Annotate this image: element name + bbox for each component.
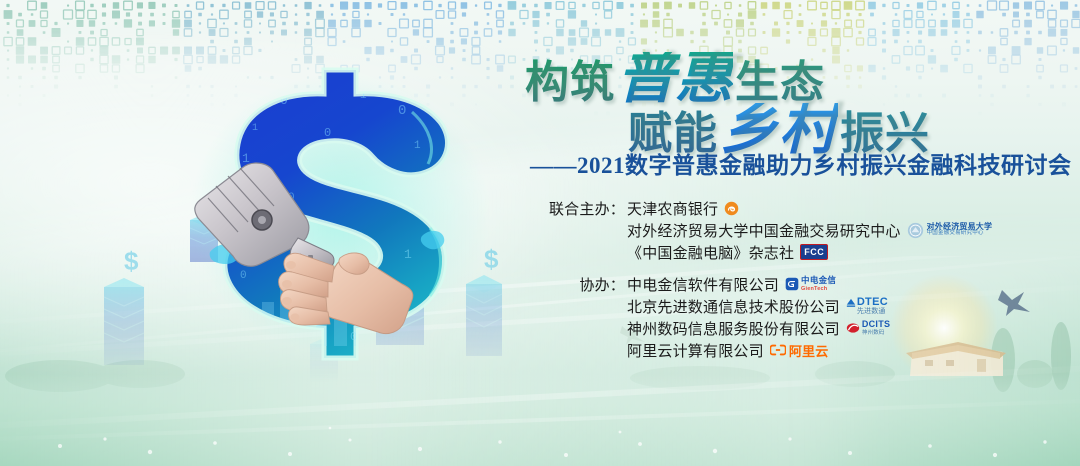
gientech-logo-en: GienTech [801, 286, 836, 293]
svg-text:1: 1 [404, 247, 412, 262]
uibe-logo: 对外经济贸易大学 中国金融交易研究中心 [907, 222, 993, 239]
credits-block: 联合主办： 天津农商银行 对外经济贸易大学中国金融交易研究中心 [533, 197, 953, 371]
dtec-logo-en: DTEC [857, 297, 888, 308]
credit-lead-label: 联合主办： [533, 198, 625, 219]
dtec-mark-icon [846, 298, 856, 308]
credit-org-name: 天津农商银行 [627, 198, 718, 219]
credit-org-name: 阿里云计算有限公司 [627, 340, 764, 361]
uibe-logo-sub: 中国金融交易研究中心 [927, 230, 993, 237]
credit-lead-label: 协办： [533, 274, 625, 295]
dcits-logo-en: DCITS [862, 319, 891, 330]
credit-row: 阿里云计算有限公司 阿里云 [533, 339, 953, 361]
svg-text:$: $ [124, 246, 139, 276]
svg-text:0: 0 [240, 270, 247, 282]
svg-text:0: 0 [398, 103, 406, 119]
svg-text:$: $ [484, 244, 499, 274]
tjrcb-logo [724, 201, 739, 216]
fcc-logo: FCC [800, 244, 828, 260]
credit-row: 《中国金融电脑》杂志社 FCC [533, 241, 953, 263]
event-subtitle: ——2021数字普惠金融助力乡村振兴金融科技研讨会 [530, 151, 1070, 181]
credit-org-name: 神州数码信息服务股份有限公司 [627, 318, 840, 339]
dtec-logo-cn: 先进数通 [857, 308, 886, 315]
dcits-logo-cn: 神州数码 [862, 330, 891, 337]
svg-text:1: 1 [252, 123, 258, 134]
credit-row: 北京先进数通信息技术股份公司 DTEC 先进数通 [533, 295, 953, 317]
credit-row: 联合主办： 天津农商银行 [533, 197, 953, 219]
credit-org-name: 北京先进数通信息技术股份公司 [627, 296, 840, 317]
fcc-logo-text: FCC [800, 244, 828, 260]
credit-row: 对外经济贸易大学中国金融交易研究中心 对外经济贸易大学 中国金融交易研究中心 [533, 219, 953, 241]
headline-seg-5: 乡村 [720, 103, 838, 155]
credit-group-co-hosts: 联合主办： 天津农商银行 对外经济贸易大学中国金融交易研究中心 [533, 197, 953, 263]
dcits-logo: DCITS 神州数码 [846, 319, 891, 337]
credit-row: 神州数码信息服务股份有限公司 DCITS 神州数码 [533, 317, 953, 339]
credit-row: 协办： 中电金信软件有限公司 中电金信 GienTech [533, 273, 953, 295]
uibe-logo-cn: 对外经济贸易大学 [927, 223, 993, 230]
aliyun-logo: 阿里云 [770, 341, 829, 360]
aliyun-logo-cn: 阿里云 [789, 341, 829, 360]
dtec-logo: DTEC 先进数通 [846, 297, 888, 315]
gientech-mark-icon [785, 277, 799, 291]
cetc-gientech-logo: 中电金信 GienTech [785, 275, 836, 293]
credit-org-name: 中电金信软件有限公司 [627, 274, 779, 295]
credit-group-supporters: 协办： 中电金信软件有限公司 中电金信 GienTech 北京先进数通信息技术股… [533, 273, 953, 361]
aliyun-mark-icon [770, 344, 786, 356]
tjrcb-logo-icon [724, 201, 739, 216]
credit-org-name: 《中国金融电脑》杂志社 [627, 242, 794, 263]
svg-text:1: 1 [414, 140, 421, 152]
headline-seg-2: 普惠 [617, 52, 733, 104]
headline-seg-1: 构筑 [525, 57, 615, 109]
credit-org-name: 对外经济贸易大学中国金融交易研究中心 [627, 220, 901, 241]
dcits-mark-icon [846, 322, 860, 334]
uibe-seal-icon [907, 222, 924, 239]
dollar-handshake-artwork: $ $ [92, 52, 512, 382]
svg-text:0: 0 [324, 126, 331, 140]
event-banner: $ $ [0, 0, 1080, 466]
gientech-logo-cn: 中电金信 [801, 275, 836, 286]
